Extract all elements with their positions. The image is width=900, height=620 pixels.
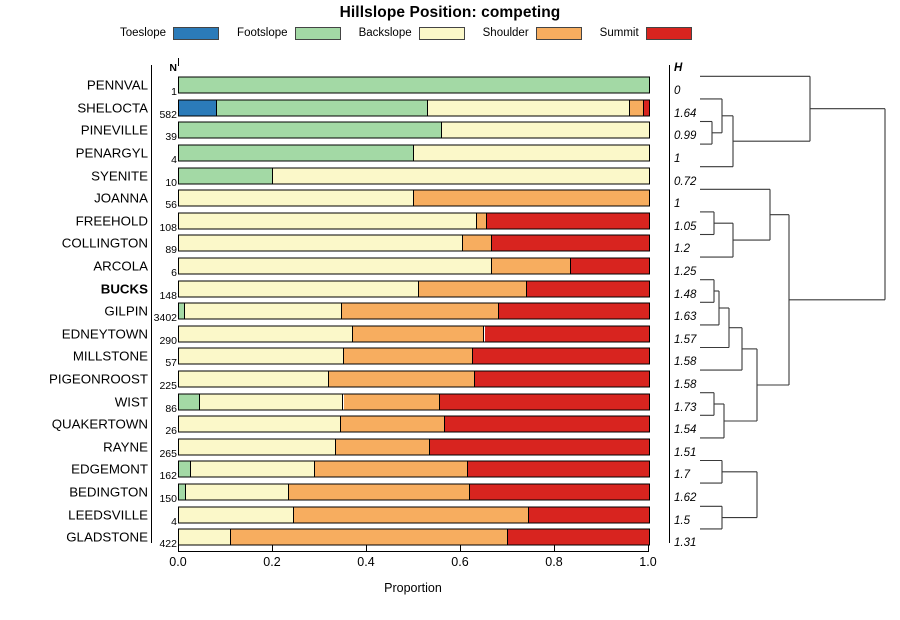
page-title: Hillslope Position: competing <box>0 4 900 22</box>
bar-segment-summit <box>571 259 649 274</box>
bar-segment-shoulder <box>353 326 485 341</box>
bar-segment-backslope <box>428 100 630 115</box>
bar-segment-shoulder <box>231 530 508 545</box>
bar-segment-footslope <box>179 146 414 161</box>
bar-segment-summit <box>492 236 649 251</box>
x-axis-tick <box>460 545 461 552</box>
bar-segment-shoulder <box>315 462 468 477</box>
row-label-rayne: RAYNE <box>103 440 148 453</box>
bar-segment-summit <box>485 326 650 341</box>
bar-segment-backslope <box>179 349 344 364</box>
stacked-bar <box>178 506 650 523</box>
legend-swatch-toeslope <box>173 27 219 40</box>
stacked-bar <box>178 122 650 139</box>
bar-segment-toeslope <box>179 100 217 115</box>
row-label-freehold: FREEHOLD <box>76 214 148 227</box>
stacked-bar <box>178 438 650 455</box>
bar-segment-shoulder <box>341 417 444 432</box>
stacked-bar <box>178 99 650 116</box>
bar-segment-backslope <box>179 372 329 387</box>
x-axis-tick-label: 1.0 <box>628 555 668 569</box>
x-axis-tick-label: 0.4 <box>346 555 386 569</box>
bar-segment-shoulder <box>477 213 486 228</box>
row-label-shelocta: SHELOCTA <box>77 101 148 114</box>
x-axis-tick-label: 0.0 <box>158 555 198 569</box>
bar-segment-backslope <box>200 394 343 409</box>
legend-label-shoulder: Shoulder <box>483 27 529 39</box>
stacked-bar <box>178 371 650 388</box>
legend-swatch-backslope <box>419 27 465 40</box>
x-axis-tick-label: 0.8 <box>534 555 574 569</box>
stacked-bar <box>178 145 650 162</box>
x-axis-tick-label: 0.6 <box>440 555 480 569</box>
bar-segment-backslope <box>179 530 231 545</box>
row-label-gladstone: GLADSTONE <box>66 531 148 544</box>
legend-swatch-summit <box>646 27 692 40</box>
stacked-bar <box>178 348 650 365</box>
bar-segment-shoulder <box>294 507 529 522</box>
row-label-penargyl: PENARGYL <box>76 146 148 159</box>
legend-swatch-footslope <box>295 27 341 40</box>
bar-segment-backslope <box>186 484 289 499</box>
bar-segment-footslope <box>179 168 273 183</box>
bar-segment-shoulder <box>630 100 644 115</box>
row-label-quakertown: QUAKERTOWN <box>52 418 148 431</box>
bar-segment-backslope <box>185 304 342 319</box>
bar-segment-backslope <box>179 326 353 341</box>
bar-segment-summit <box>529 507 649 522</box>
row-label-edneytown: EDNEYTOWN <box>62 327 148 340</box>
bar-segment-backslope <box>179 236 463 251</box>
bar-segment-summit <box>470 484 649 499</box>
bar-segment-footslope <box>179 78 649 93</box>
bar-segment-footslope <box>179 123 442 138</box>
bar-segment-shoulder <box>492 259 572 274</box>
stacked-bar <box>178 280 650 297</box>
row-label-pennval: PENNVAL <box>87 79 148 92</box>
row-label-arcola: ARCOLA <box>93 259 148 272</box>
bar-segment-summit <box>468 462 649 477</box>
stacked-bar <box>178 190 650 207</box>
stacked-bar <box>178 529 650 546</box>
stacked-bar <box>178 416 650 433</box>
legend-item-shoulder: Shoulder <box>483 27 582 40</box>
stacked-bar <box>178 258 650 275</box>
bar-segment-summit <box>430 439 649 454</box>
bar-segment-backslope <box>179 191 414 206</box>
bar-segment-shoulder <box>344 394 440 409</box>
legend: Toeslope Footslope Backslope Shoulder Su… <box>120 24 780 42</box>
stacked-bar <box>178 325 650 342</box>
bar-segment-summit <box>644 100 649 115</box>
stacked-bar <box>178 77 650 94</box>
bar-segment-footslope <box>179 394 200 409</box>
legend-label-footslope: Footslope <box>237 27 288 39</box>
bar-segment-shoulder <box>414 191 649 206</box>
bar-segment-summit <box>440 394 649 409</box>
x-axis-line <box>178 551 648 552</box>
bar-segment-summit <box>487 213 649 228</box>
bar-segment-shoulder <box>344 349 473 364</box>
stacked-bar <box>178 303 650 320</box>
bar-segment-shoulder <box>329 372 475 387</box>
row-label-bedington: BEDINGTON <box>69 485 148 498</box>
stacked-bar <box>178 212 650 229</box>
legend-item-summit: Summit <box>600 27 692 40</box>
bar-segment-footslope <box>179 462 191 477</box>
bar-segment-summit <box>445 417 649 432</box>
stacked-bar <box>178 483 650 500</box>
bar-segment-summit <box>475 372 649 387</box>
legend-item-footslope: Footslope <box>237 27 341 40</box>
x-axis-title: Proportion <box>178 581 648 595</box>
x-axis-tick-label: 0.2 <box>252 555 292 569</box>
x-axis-tick <box>554 545 555 552</box>
row-label-millstone: MILLSTONE <box>73 350 148 363</box>
bar-segment-summit <box>473 349 649 364</box>
legend-label-toeslope: Toeslope <box>120 27 166 39</box>
bar-segment-backslope <box>179 281 419 296</box>
x-axis-tick <box>272 545 273 552</box>
row-label-bucks: BUCKS <box>101 282 148 295</box>
row-label-edgemont: EDGEMONT <box>71 463 148 476</box>
row-label-joanna: JOANNA <box>94 192 148 205</box>
hierarchical-cluster-dendrogram <box>700 60 895 555</box>
legend-item-backslope: Backslope <box>359 27 465 40</box>
bar-segment-summit <box>527 281 649 296</box>
panel-top-tick <box>178 58 179 66</box>
bar-segment-backslope <box>273 168 649 183</box>
row-label-syenite: SYENITE <box>91 169 148 182</box>
row-n-value: 422 <box>153 539 177 550</box>
row-label-wist: WIST <box>115 395 148 408</box>
legend-label-summit: Summit <box>600 27 639 39</box>
bar-segment-footslope <box>217 100 429 115</box>
bar-segment-backslope <box>179 507 294 522</box>
row-label-pineville: PINEVILLE <box>81 124 148 137</box>
bar-segment-backslope <box>179 213 477 228</box>
legend-swatch-shoulder <box>536 27 582 40</box>
bar-segment-shoulder <box>419 281 527 296</box>
stacked-bar <box>178 461 650 478</box>
bar-segment-shoulder <box>463 236 491 251</box>
bar-segment-backslope <box>179 259 492 274</box>
bar-segment-summit <box>508 530 649 545</box>
bar-segment-backslope <box>179 439 336 454</box>
dendrogram-svg <box>700 60 895 555</box>
bar-segment-shoulder <box>289 484 470 499</box>
bar-segment-backslope <box>414 146 649 161</box>
bar-segment-backslope <box>191 462 316 477</box>
row-label-gilpin: GILPIN <box>104 305 148 318</box>
legend-item-toeslope: Toeslope <box>120 27 219 40</box>
column-header-n: N <box>153 63 177 74</box>
bar-segment-backslope <box>179 417 341 432</box>
x-axis-tick <box>648 545 649 552</box>
stacked-bar <box>178 167 650 184</box>
stacked-bar <box>178 393 650 410</box>
bar-segment-summit <box>499 304 649 319</box>
bar-segment-footslope <box>179 484 186 499</box>
bar-segment-shoulder <box>342 304 499 319</box>
x-axis-tick <box>366 545 367 552</box>
row-label-pigeonroost: PIGEONROOST <box>49 372 148 385</box>
x-axis-tick <box>178 545 179 552</box>
row-label-leedsville: LEEDSVILLE <box>68 508 148 521</box>
bar-segment-backslope <box>442 123 649 138</box>
legend-label-backslope: Backslope <box>359 27 412 39</box>
row-label-collington: COLLINGTON <box>62 237 148 250</box>
bar-segment-shoulder <box>336 439 430 454</box>
stacked-bar <box>178 235 650 252</box>
